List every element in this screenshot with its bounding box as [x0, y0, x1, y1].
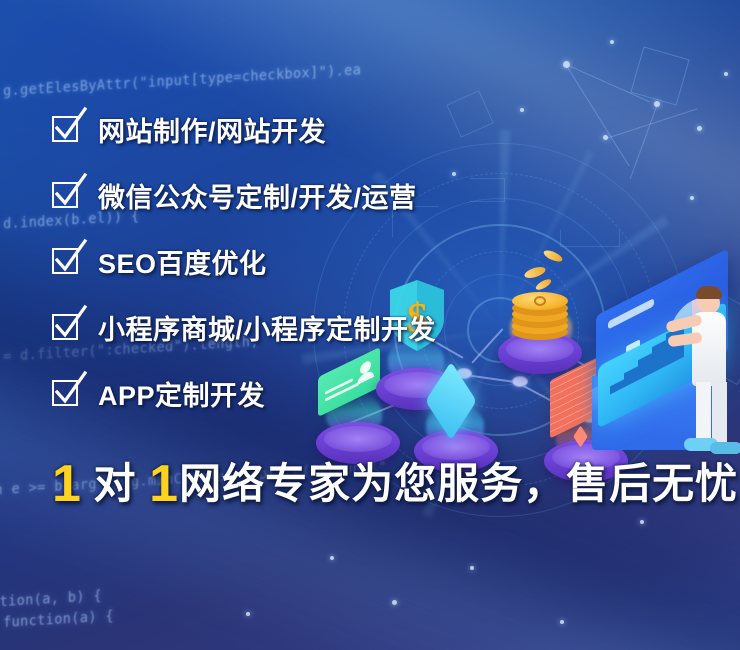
- feature-label: SEO百度优化: [98, 242, 267, 281]
- person-leg: [712, 382, 727, 444]
- constellation-dot: [392, 600, 397, 605]
- checkbox-checked-icon[interactable]: [52, 180, 82, 210]
- constellation-dot: [246, 612, 250, 616]
- feature-item-website[interactable]: 网站制作/网站开发: [52, 96, 692, 162]
- constellation-dot: [330, 556, 334, 560]
- headline-number-first: 1: [52, 455, 82, 513]
- feature-label: APP定制开发: [98, 374, 265, 413]
- checkbox-checked-icon[interactable]: [52, 312, 82, 342]
- checkbox-checked-icon[interactable]: [52, 114, 82, 144]
- feature-item-seo[interactable]: SEO百度优化: [52, 228, 692, 294]
- code-line: unction(a, b) {: [0, 554, 444, 626]
- person-leg: [696, 382, 711, 444]
- constellation-dot: [610, 40, 614, 44]
- constellation-dot: [470, 566, 474, 570]
- feature-item-wechat[interactable]: 微信公众号定制/开发/运营: [52, 162, 692, 228]
- headline-middle: 对: [93, 460, 136, 507]
- constellation-dot: [724, 72, 728, 76]
- feature-label: 微信公众号定制/开发/运营: [98, 176, 417, 215]
- feature-item-miniprogram[interactable]: 小程序商城/小程序定制开发: [52, 294, 692, 360]
- feature-label: 网站制作/网站开发: [98, 110, 326, 149]
- feature-list: 网站制作/网站开发 微信公众号定制/开发/运营 SEO百度优化 小程序商城/小程…: [52, 96, 692, 426]
- headline-number-second: 1: [149, 455, 179, 513]
- feature-item-app[interactable]: APP定制开发: [52, 360, 692, 426]
- checkbox-checked-icon[interactable]: [52, 246, 82, 276]
- feature-label: 小程序商城/小程序定制开发: [98, 308, 436, 347]
- constellation-dot: [563, 61, 570, 68]
- code-line: function(a) {: [0, 574, 456, 646]
- constellation-dot: [560, 620, 564, 624]
- checkbox-checked-icon[interactable]: [52, 378, 82, 408]
- person-hair: [696, 286, 722, 299]
- headline-slogan: 1 对 1网络专家为您服务，售后无忧！: [52, 450, 740, 511]
- promo-banner: g.getElesByAttr("input[type=checkbox]").…: [0, 0, 740, 650]
- headline-tail: 网络专家为您服务，售后无忧！: [179, 460, 740, 507]
